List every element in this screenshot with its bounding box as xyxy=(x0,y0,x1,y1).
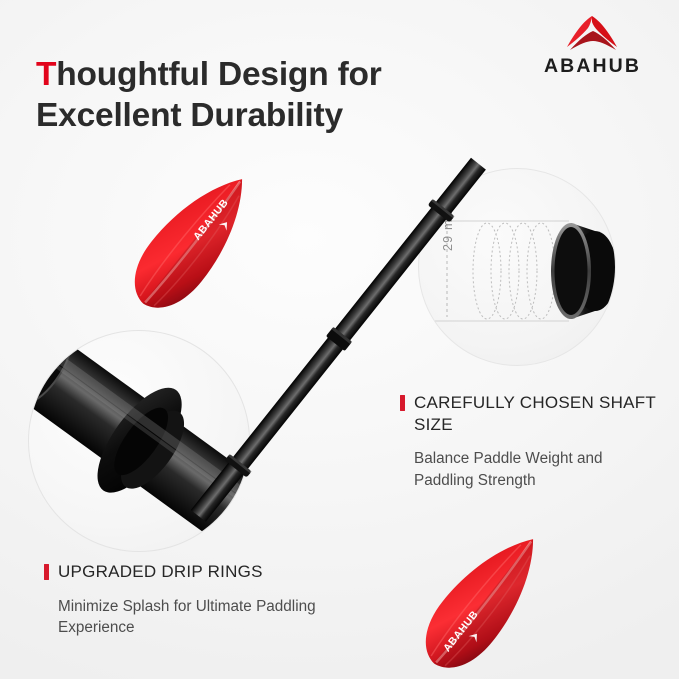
page-title: Thoughtful Design for Excellent Durabili… xyxy=(36,54,506,136)
headline-line1: houghtful Design for xyxy=(56,56,381,93)
drip-ring-closeup-illustration xyxy=(29,331,249,551)
paddle-blade-upper: ABAHUB xyxy=(118,159,267,323)
callout-shaft-size: CAREFULLY CHOSEN SHAFT SIZE Balance Padd… xyxy=(400,392,662,491)
shaft-size-detail-circle: 29 mm xyxy=(418,168,616,366)
red-bar-marker-icon xyxy=(44,564,49,580)
brand-logo: ABAHUB xyxy=(520,14,665,80)
brand-wordmark: ABAHUB xyxy=(520,55,665,77)
callout-drip-rings-title: UPGRADED DRIP RINGS xyxy=(58,561,263,583)
product-marketing-image: ABAHUB Thoughtful Design for Excellent D… xyxy=(0,0,679,679)
callout-shaft-size-heading: CAREFULLY CHOSEN SHAFT SIZE xyxy=(400,392,662,435)
callout-shaft-size-subtitle: Balance Paddle Weight and Paddling Stren… xyxy=(414,448,662,491)
callout-drip-rings-subtitle: Minimize Splash for Ultimate Paddling Ex… xyxy=(58,596,334,639)
shaft-diameter-label: 29 mm xyxy=(441,207,455,251)
abahub-swoosh-icon xyxy=(562,14,624,54)
headline-accent-letter: T xyxy=(36,56,56,93)
drip-ring-detail-circle xyxy=(28,330,250,552)
headline-line2: Excellent Durability xyxy=(36,97,343,134)
paddle-blade-lower: ABAHUB xyxy=(409,519,558,679)
callout-drip-rings: UPGRADED DRIP RINGS Minimize Splash for … xyxy=(44,561,334,639)
callout-shaft-size-title: CAREFULLY CHOSEN SHAFT SIZE xyxy=(414,392,662,435)
callout-drip-rings-heading: UPGRADED DRIP RINGS xyxy=(44,561,334,583)
shaft-diameter-diagram xyxy=(419,169,615,365)
blade-brand-text-upper: ABAHUB xyxy=(191,197,231,243)
blade-brand-text-lower: ABAHUB xyxy=(441,608,481,654)
red-bar-marker-icon xyxy=(400,395,405,411)
